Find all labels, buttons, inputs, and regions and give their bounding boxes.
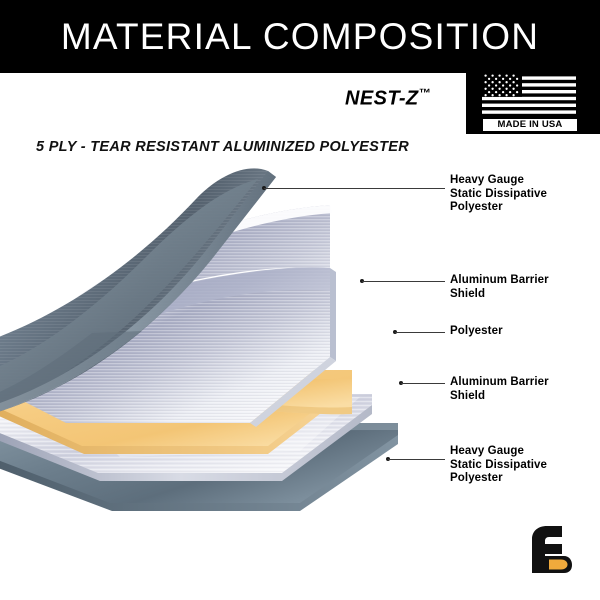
callout-3-text: Polyester [450,325,503,339]
leader-line-1 [264,188,445,189]
brand-name: NEST-Z™ [345,86,431,111]
callout-1-text: Heavy Gauge Static Dissipative Polyester [450,174,547,215]
leader-line-4 [401,383,445,384]
material-layers-diagram [0,165,420,515]
callout-2-text: Aluminum Barrier Shield [450,274,549,301]
leader-line-3 [395,332,445,333]
callout-4-text: Aluminum Barrier Shield [450,376,549,403]
us-flag-icon [482,73,576,117]
trademark-symbol: ™ [419,86,431,100]
brand-text: NEST-Z [345,88,419,110]
made-in-usa-badge: MADE IN USA [482,73,582,133]
page-title: MATERIAL COMPOSITION [0,0,600,73]
poster-root: MATERIAL COMPOSITION NEST-Z™ [0,0,600,600]
callout-5-text: Heavy Gauge Static Dissipative Polyester [450,445,547,486]
subtitle: 5 PLY - TEAR RESISTANT ALUMINIZED POLYES… [36,139,409,155]
layer-stack-svg [0,165,420,515]
leader-line-2 [362,281,445,282]
made-in-usa-label: MADE IN USA [483,119,577,131]
us-flag-svg [482,73,576,117]
fb-logo [528,523,572,575]
fb-logo-svg [528,523,572,575]
logo-accent-shape [549,560,568,570]
leader-line-5 [388,459,445,460]
